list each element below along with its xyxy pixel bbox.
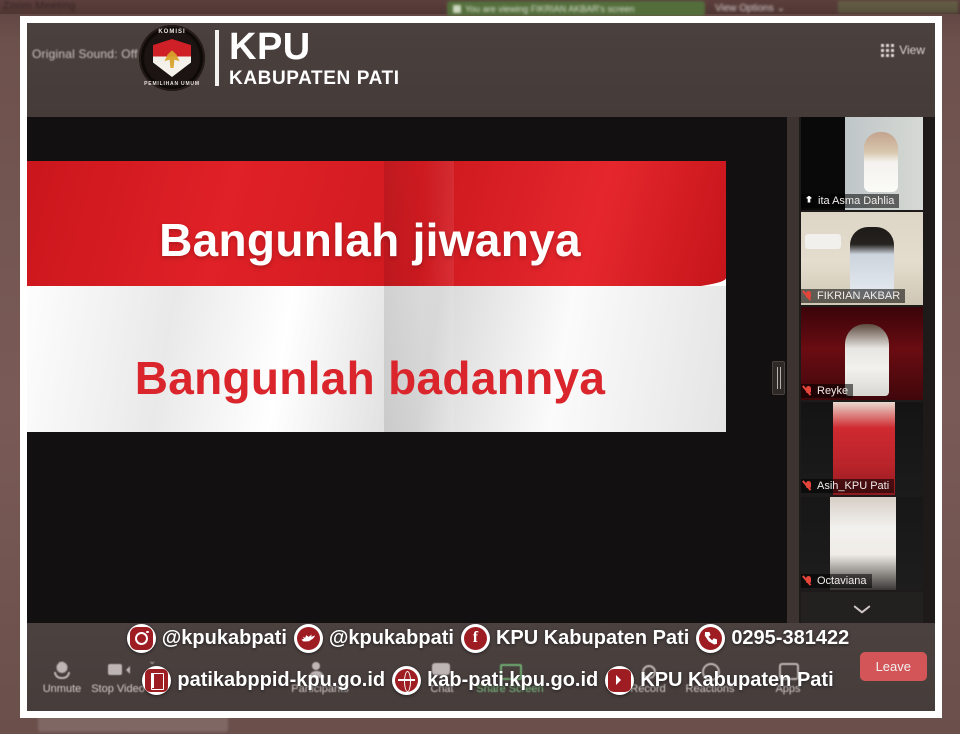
view-layout-label: View xyxy=(899,43,925,57)
view-layout-button[interactable]: View xyxy=(881,43,925,57)
participant-name-badge-1: FIKRIAN AKBAR xyxy=(801,289,905,303)
presentation-slide: Bangunlah jiwanya Bangunlah badannya xyxy=(20,161,726,432)
logo-ring-top-text: KOMISI xyxy=(139,29,205,35)
grip-line xyxy=(780,367,781,389)
share-screen-icon xyxy=(499,661,521,679)
grid-icon xyxy=(881,44,894,57)
toolbar-label-apps: Apps xyxy=(775,683,800,695)
participant-name-badge-0: ita Asma Dahlia xyxy=(801,194,899,208)
panel-resize-handle[interactable] xyxy=(772,361,785,395)
participant-tile-3[interactable]: Asih_KPU Pati xyxy=(801,402,923,495)
zoom-window-inner: Original Sound: Off ⌄ KOMISI PEMILIHAN U… xyxy=(27,23,935,711)
participant-tile-2[interactable]: Reyke xyxy=(801,307,923,400)
toolbar-label-participants: Participants xyxy=(291,683,348,695)
record-icon xyxy=(637,661,659,679)
slide-heading-line-2: Bangunlah badannya xyxy=(20,351,726,405)
toolbar-button-apps[interactable]: Apps xyxy=(745,661,831,695)
unmute-chevron-icon[interactable]: ⌄ xyxy=(57,656,65,667)
participant-name-badge-4: Octaviana xyxy=(801,574,872,588)
mic-muted-icon xyxy=(804,386,813,397)
chat-icon xyxy=(431,661,453,679)
participant-name-0: ita Asma Dahlia xyxy=(818,195,894,207)
zoom-window-frame: Original Sound: Off ⌄ KOMISI PEMILIHAN U… xyxy=(20,16,942,718)
participant-name-1: FIKRIAN AKBAR xyxy=(817,290,900,302)
zoom-top-bar: Original Sound: Off ⌄ KOMISI PEMILIHAN U… xyxy=(27,23,935,117)
os-top-right-region xyxy=(838,1,958,13)
pin-icon xyxy=(804,196,814,207)
participant-name-4: Octaviana xyxy=(817,575,867,587)
kpu-brand-lockup: KOMISI PEMILIHAN UMUM KPU KABUPATEN PATI xyxy=(139,25,400,91)
view-options-label: View Options xyxy=(715,3,774,14)
participant-tile-0[interactable]: ita Asma Dahlia xyxy=(801,117,923,210)
filmstrip-scroll-down-button[interactable] xyxy=(801,592,923,626)
apps-icon xyxy=(777,661,799,679)
participant-name-badge-2: Reyke xyxy=(801,384,853,398)
toolbar-label-reactions: Reactions xyxy=(686,683,735,695)
camera-icon xyxy=(107,661,129,679)
stop-video-chevron-icon[interactable]: ⌄ xyxy=(148,656,156,667)
participant-name-2: Reyke xyxy=(817,385,848,397)
participant-filmstrip: ita Asma Dahlia FIKRIAN AKBAR Reyke xyxy=(799,117,942,625)
participants-icon xyxy=(309,661,331,679)
shared-screen-stage: Bangunlah jiwanya Bangunlah badannya xyxy=(27,117,787,625)
os-window-title: Zoom Meeting xyxy=(3,0,76,12)
viewing-screen-text: You are viewing FIKRIAN AKBAR's screen xyxy=(465,4,634,14)
toolbar-label-stop-video: Stop Video xyxy=(91,683,145,695)
participant-tile-1[interactable]: FIKRIAN AKBAR xyxy=(801,212,923,305)
toolbar-label-chat: Chat xyxy=(430,683,453,695)
screenshot-root: Zoom Meeting You are viewing FIKRIAN AKB… xyxy=(0,0,960,734)
brand-text: KPU KABUPATEN PATI xyxy=(229,28,400,88)
participant-tile-4[interactable]: Octaviana xyxy=(801,497,923,590)
logo-ring-bottom-text: PEMILIHAN UMUM xyxy=(139,81,205,87)
brand-line-2: KABUPATEN PATI xyxy=(229,69,400,88)
mic-muted-icon xyxy=(804,576,813,587)
reactions-icon xyxy=(699,661,721,679)
view-options-button[interactable]: View Options ⌄ xyxy=(715,1,785,16)
chevron-down-icon: ⌄ xyxy=(777,3,785,14)
toolbar-button-share-screen[interactable]: Share Screen xyxy=(467,661,553,695)
participant-name-3: Asih_KPU Pati xyxy=(817,480,889,492)
mic-muted-icon xyxy=(804,481,813,492)
toolbar-label-record: Record xyxy=(630,683,665,695)
toolbar-button-reactions[interactable]: Reactions xyxy=(667,661,753,695)
original-sound-label[interactable]: Original Sound: Off xyxy=(32,47,138,61)
toolbar-button-participants[interactable]: Participants xyxy=(277,661,363,695)
viewing-screen-banner: You are viewing FIKRIAN AKBAR's screen xyxy=(447,1,705,16)
leave-meeting-button[interactable]: Leave xyxy=(860,652,927,681)
screen-share-icon xyxy=(453,5,461,13)
participant-name-badge-3: Asih_KPU Pati xyxy=(801,479,894,493)
grip-line xyxy=(777,367,778,389)
brand-line-1: KPU xyxy=(229,28,400,66)
brand-divider xyxy=(215,30,219,86)
chevron-down-icon xyxy=(854,605,870,614)
zoom-bottom-toolbar: Unmute ⌄ Stop Video ⌄ Participants Chat xyxy=(27,623,935,711)
toolbar-label-share-screen: Share Screen xyxy=(476,683,543,695)
mic-muted-icon xyxy=(804,291,813,302)
kpu-logo-icon: KOMISI PEMILIHAN UMUM xyxy=(139,25,205,91)
slide-heading-line-1: Bangunlah jiwanya xyxy=(20,213,726,267)
